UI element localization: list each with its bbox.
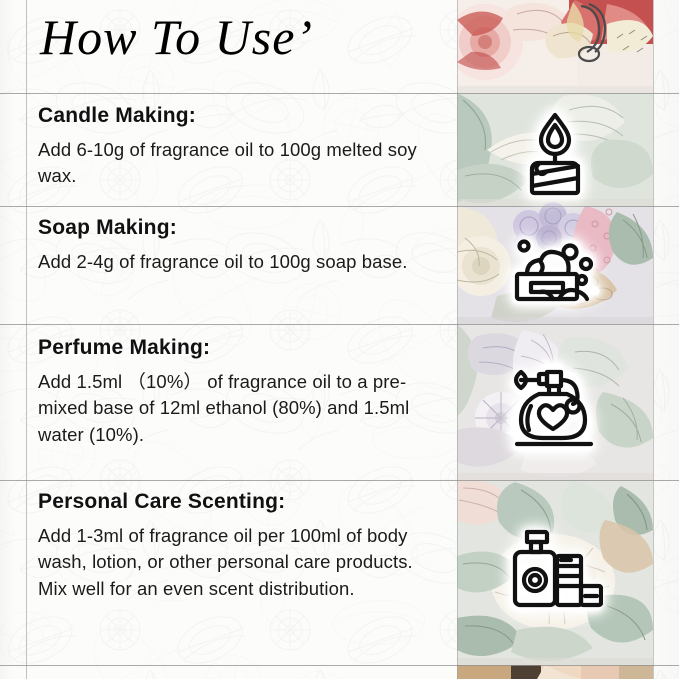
section-title-candle-making: Candle Making:	[38, 104, 438, 128]
section-perfume-making: Perfume Making: Add 1.5ml （10%） of fragr…	[38, 336, 438, 448]
section-candle-making: Candle Making: Add 6-10g of fragrance oi…	[38, 104, 438, 190]
illustration-panel-right-border	[653, 0, 654, 679]
page-title: How To Use’	[40, 12, 313, 62]
illustration-panel-left-border	[457, 0, 458, 679]
floral-illustration-panel	[457, 0, 653, 679]
divider-below-candle	[0, 206, 679, 207]
divider-bottom	[0, 665, 679, 666]
divider-below-title	[0, 93, 679, 94]
section-title-personal-care-scenting: Personal Care Scenting:	[38, 490, 438, 514]
section-soap-making: Soap Making: Add 2-4g of fragrance oil t…	[38, 216, 438, 275]
infographic-page: How To Use’ Candle Making: Add 6-10g of …	[0, 0, 679, 679]
section-title-soap-making: Soap Making:	[38, 216, 438, 240]
section-body-soap-making: Add 2-4g of fragrance oil to 100g soap b…	[38, 249, 438, 275]
section-body-perfume-making: Add 1.5ml （10%） of fragrance oil to a pr…	[38, 369, 438, 448]
section-body-candle-making: Add 6-10g of fragrance oil to 100g melte…	[38, 137, 438, 190]
divider-below-soap	[0, 324, 679, 325]
divider-below-perfume	[0, 480, 679, 481]
section-personal-care-scenting: Personal Care Scenting: Add 1-3ml of fra…	[38, 490, 438, 602]
section-body-personal-care-scenting: Add 1-3ml of fragrance oil per 100ml of …	[38, 523, 438, 602]
left-margin-rule	[26, 0, 27, 679]
section-title-perfume-making: Perfume Making:	[38, 336, 438, 360]
